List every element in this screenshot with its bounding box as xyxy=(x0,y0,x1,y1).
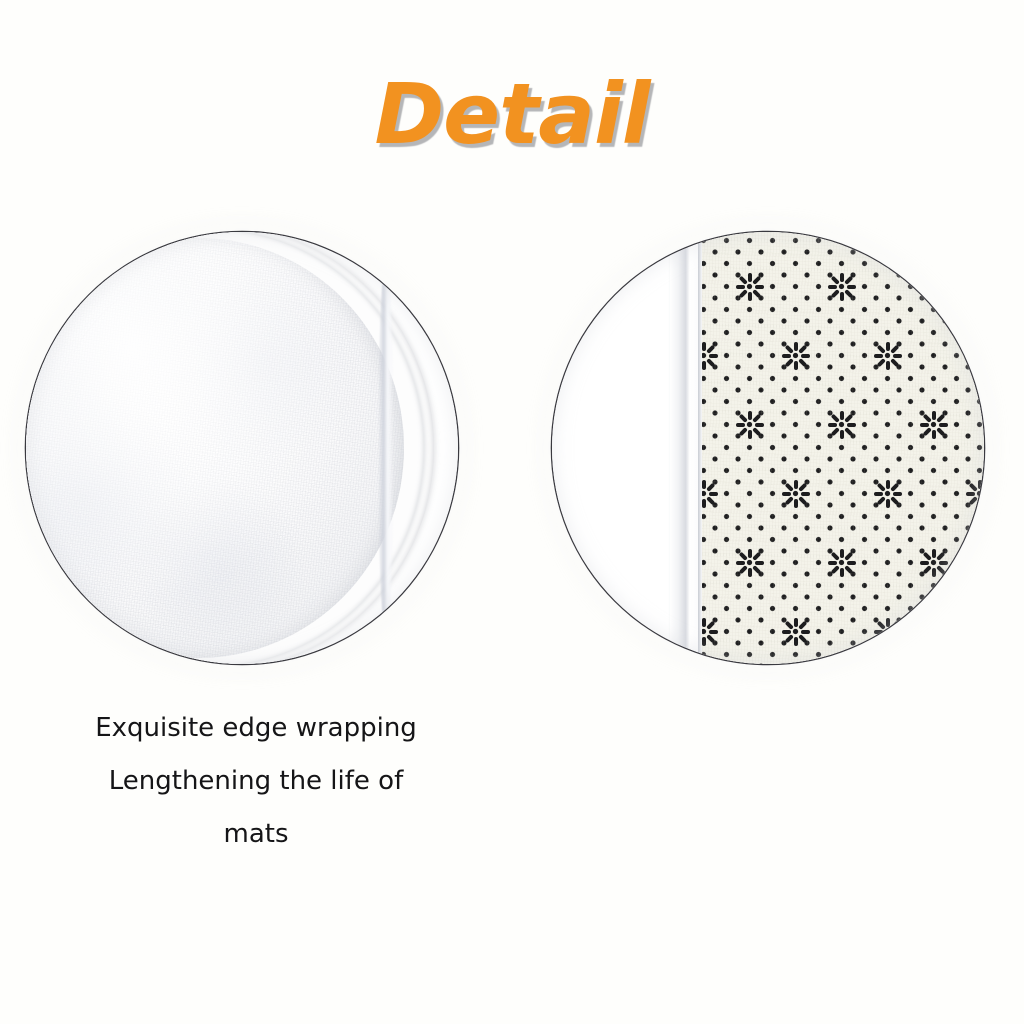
anti-slip-flower-motif xyxy=(702,232,721,235)
detail-panel-anti-slip: Dense strong anti-slip Point, Plastic Bo… xyxy=(512,0,1024,1024)
anti-slip-flower-motif xyxy=(779,339,813,373)
anti-slip-flower-motif xyxy=(963,339,985,373)
anti-slip-flower-motif xyxy=(917,408,951,442)
caption-line: mats xyxy=(16,808,496,861)
anti-slip-flower-motif xyxy=(825,408,859,442)
anti-slip-flower-motif xyxy=(733,546,767,580)
anti-slip-flower-motif xyxy=(825,546,859,580)
anti-slip-flower-motif xyxy=(871,477,905,511)
anti-slip-flower-motif xyxy=(825,270,859,304)
anti-slip-flower-motif xyxy=(702,339,721,373)
anti-slip-flower-motif xyxy=(871,615,905,649)
anti-slip-flower-motif xyxy=(733,408,767,442)
anti-slip-flower-motif xyxy=(871,232,905,235)
detail-panel-edge-wrapping: Exquisite edge wrapping Lengthening the … xyxy=(0,0,512,1024)
anti-slip-flower-motif xyxy=(779,477,813,511)
mat-edge-piping xyxy=(378,260,394,636)
anti-slip-flower-motif xyxy=(779,232,813,235)
anti-slip-backing-panel xyxy=(702,232,984,664)
anti-slip-flower-motif xyxy=(963,232,985,235)
anti-slip-flower-motif xyxy=(871,339,905,373)
anti-slip-dotted-bottom-photo xyxy=(552,232,984,664)
caption-line: Exquisite edge wrapping xyxy=(16,702,496,755)
product-detail-page: Detail Exquisite edge wrapping Lengtheni… xyxy=(0,0,1024,1024)
anti-slip-flower-motif xyxy=(917,546,951,580)
anti-slip-flower-motif xyxy=(702,477,721,511)
white-bath-mat-edge-photo xyxy=(26,232,458,664)
anti-slip-flower-motif xyxy=(702,615,721,649)
anti-slip-flower-motif xyxy=(733,270,767,304)
anti-slip-flower-motif xyxy=(963,615,985,649)
anti-slip-flower-motif xyxy=(779,615,813,649)
caption-line: Lengthening the life of xyxy=(16,755,496,808)
anti-slip-flower-motif xyxy=(917,270,951,304)
caption-edge-wrapping: Exquisite edge wrapping Lengthening the … xyxy=(16,702,496,861)
anti-slip-flower-motif xyxy=(963,477,985,511)
